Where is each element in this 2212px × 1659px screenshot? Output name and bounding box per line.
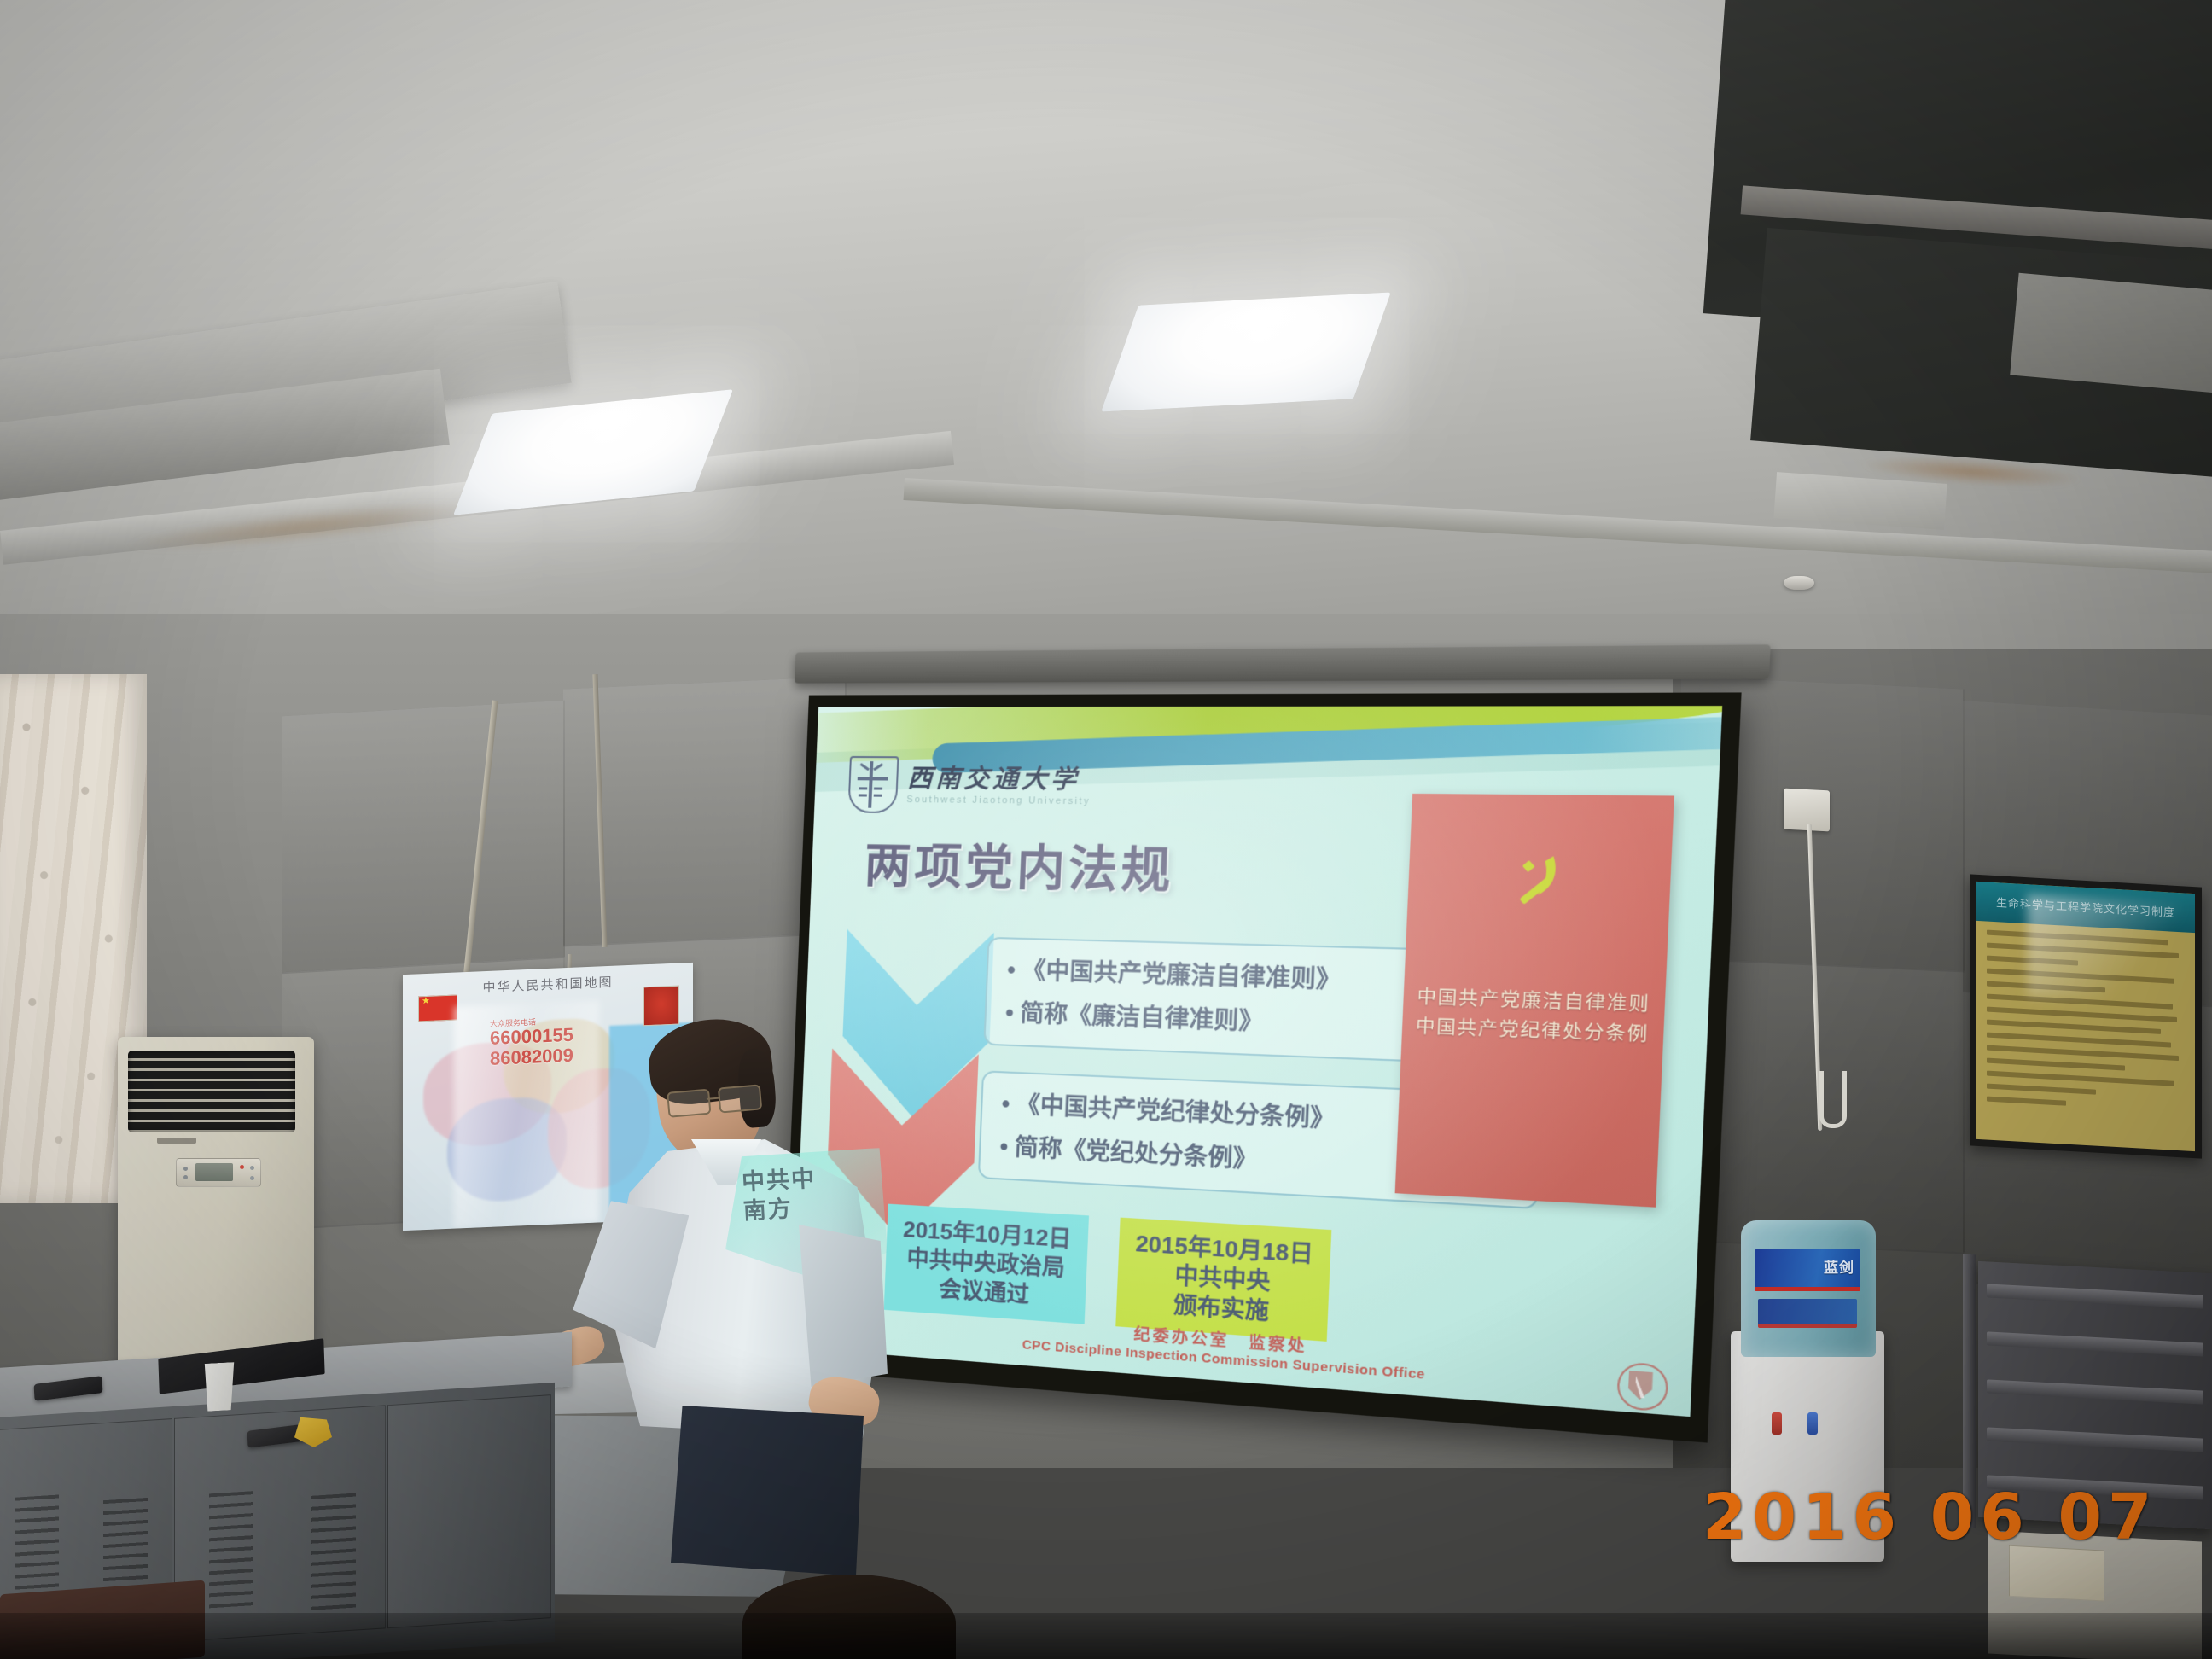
foreground-shadow [0, 1613, 2212, 1659]
cabinet-vent [209, 1491, 253, 1613]
slide-title: 两项党内法规 [863, 826, 1176, 901]
notice-text-line [1987, 1071, 2174, 1086]
ac-control-panel[interactable] [176, 1158, 261, 1187]
cabinet-door[interactable] [387, 1394, 551, 1628]
china-flag-icon [418, 994, 457, 1022]
notice-text-line [1987, 1058, 2125, 1071]
air-conditioner[interactable] [118, 1037, 314, 1378]
cable-hook-icon [1819, 1071, 1847, 1128]
ac-button[interactable] [183, 1167, 188, 1171]
rack-shelf [1987, 1427, 2203, 1452]
ceiling-panel-right [2010, 273, 2212, 393]
hammer-and-sickle-icon [1499, 847, 1576, 913]
rack-shelf [1987, 1331, 2203, 1356]
rack-shelf [1987, 1379, 2203, 1404]
ac-button[interactable] [183, 1175, 188, 1179]
speaker-trousers [671, 1406, 864, 1576]
paper-cup[interactable] [202, 1362, 236, 1412]
map-plastic-glare [454, 1000, 599, 1228]
ac-display-screen [195, 1163, 233, 1181]
notice-text-line [1987, 1020, 2161, 1034]
rack-shelf [1987, 1284, 2203, 1308]
university-shield-icon [847, 756, 899, 813]
speaker-right-arm [799, 1225, 888, 1387]
ac-power-led [240, 1165, 244, 1169]
red-book-title: 中国共产党廉洁自律准则 中国共产党纪律处分条例 [1401, 981, 1666, 1051]
notice-text-line [1987, 1084, 2096, 1095]
wall-panel [282, 701, 565, 975]
projected-text-on-shirt: 中共中南方 [741, 1165, 818, 1226]
ac-button[interactable] [250, 1166, 254, 1170]
ac-button[interactable] [250, 1176, 254, 1180]
university-logo-row: 西南交通大学 Southwest Jiaotong University [847, 756, 1092, 816]
ac-grille-icon [128, 1051, 295, 1132]
university-name-cn: 西南交通大学 [907, 765, 1092, 792]
university-name-block: 西南交通大学 Southwest Jiaotong University [906, 765, 1091, 806]
university-name-en: Southwest Jiaotong University [906, 794, 1091, 806]
red-book-cover: 中国共产党廉洁自律准则 中国共产党纪律处分条例 [1394, 793, 1674, 1207]
notice-text-line [1987, 1033, 2171, 1048]
water-brand-label: 蓝剑 [1824, 1255, 1854, 1277]
notice-glass-glare [2028, 894, 2181, 1005]
notice-text-line [1987, 1045, 2179, 1062]
speaker: 中共中南方 [589, 1020, 947, 1566]
cabinet-vent [311, 1493, 356, 1615]
notice-text-line [1987, 1097, 2066, 1106]
notice-board-inner: 生命科学与工程学院文化学习制度 [1976, 882, 2195, 1151]
photo-scene: 中华人民共和国地图 大众服务电话 66000155 86082009 生命科学与… [0, 0, 2212, 1659]
ceiling-light-right [1101, 292, 1391, 411]
notice-text-line [1987, 1007, 2177, 1022]
camera-datestamp: 2016 06 07 [1703, 1481, 2157, 1554]
ac-brand-mark [157, 1138, 196, 1144]
smoke-detector-icon [1784, 576, 1814, 590]
notice-board: 生命科学与工程学院文化学习制度 [1970, 874, 2202, 1158]
cold-water-tap[interactable] [1807, 1412, 1818, 1435]
